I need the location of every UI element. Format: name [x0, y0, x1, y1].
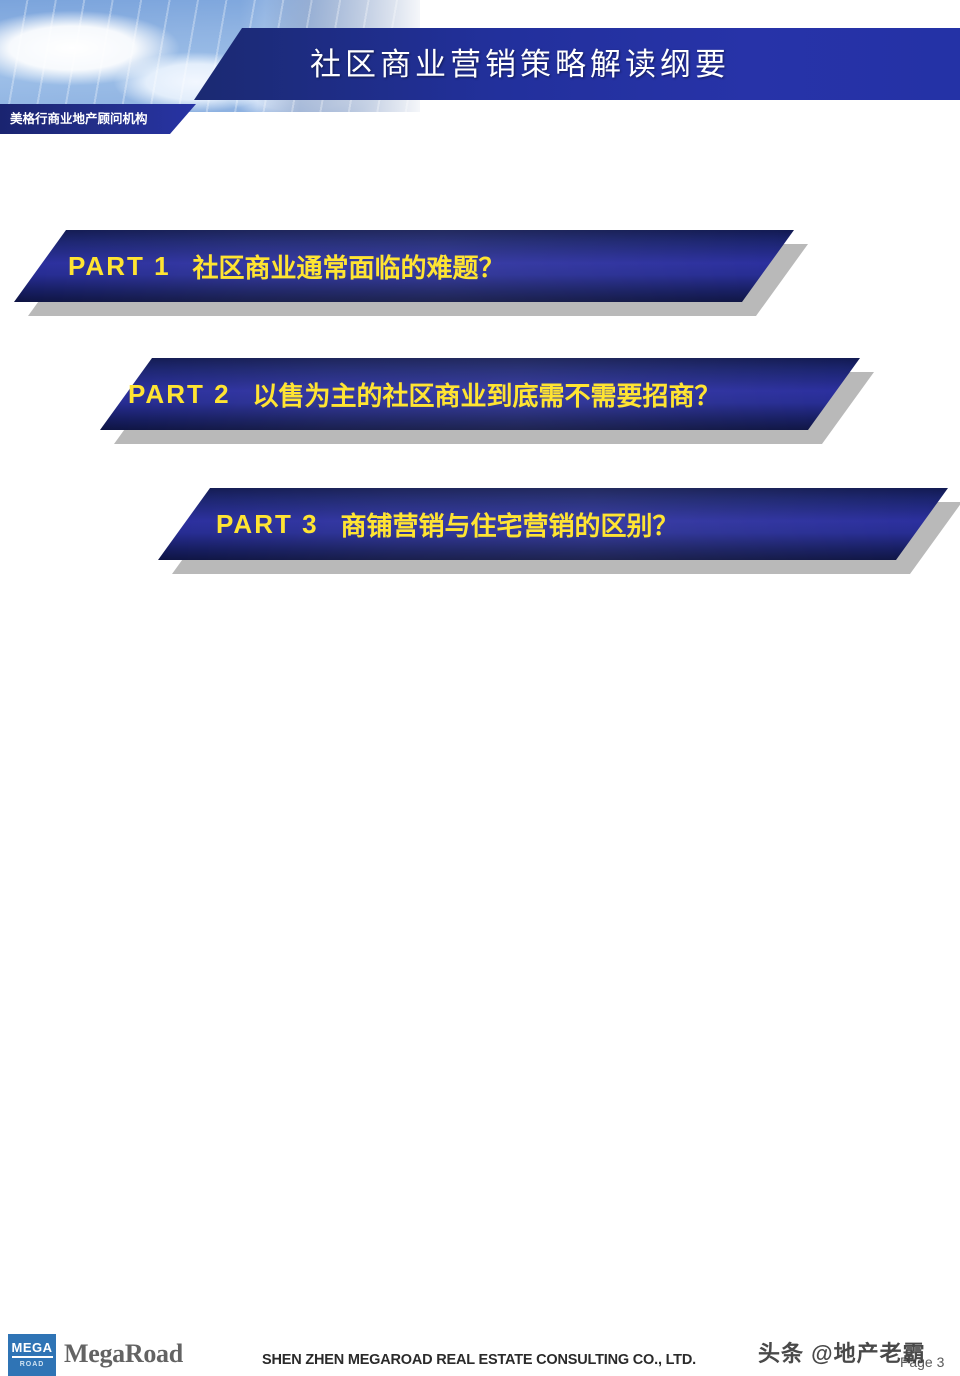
part-banner-3[interactable]: PART 3 商铺营销与住宅营销的区别？ [158, 488, 948, 560]
logo-mark-bottom-text: ROAD [20, 1360, 45, 1370]
slide-canvas: 社区商业营销策略解读纲要 美格行商业地产顾问机构 PART 1 社区商业通常面临… [0, 0, 960, 720]
brand-wordmark: MegaRoad [64, 1339, 183, 1369]
part-banner-3-title: 商铺营销与住宅营销的区别？ [341, 506, 679, 543]
slide-header: 社区商业营销策略解读纲要 美格行商业地产顾问机构 [0, 0, 960, 140]
footer-company-name: SHEN ZHEN MEGAROAD REAL ESTATE CONSULTIN… [262, 1352, 696, 1368]
watermark-text: 头条 @地产老霸 [758, 1336, 926, 1368]
company-tab-label: 美格行商业地产顾问机构 [10, 104, 180, 134]
part-banner-1-text: PART 1 社区商业通常面临的难题？ [14, 230, 848, 302]
part-banner-2[interactable]: PART 2 以售为主的社区商业到底需不需要招商？ [100, 358, 860, 430]
part-banner-2-label: PART 2 [128, 379, 231, 410]
page-title: 社区商业营销策略解读纲要 [310, 40, 930, 90]
part-banner-2-text: PART 2 以售为主的社区商业到底需不需要招商？ [100, 358, 888, 430]
part-banner-1-title: 社区商业通常面临的难题？ [193, 248, 505, 285]
part-banner-1-label: PART 1 [68, 251, 171, 282]
part-banner-3-label: PART 3 [216, 509, 319, 540]
logo-mark-top-text: MEGA [12, 1341, 53, 1358]
part-banner-3-text: PART 3 商铺营销与住宅营销的区别？ [158, 488, 960, 560]
part-banner-1[interactable]: PART 1 社区商业通常面临的难题？ [14, 230, 794, 302]
slide-footer: MEGA ROAD MegaRoad SHEN ZHEN MEGAROAD RE… [0, 660, 960, 720]
part-banner-2-title: 以售为主的社区商业到底需不需要招商？ [253, 376, 721, 413]
megaroad-logo-icon: MEGA ROAD [8, 1334, 56, 1376]
